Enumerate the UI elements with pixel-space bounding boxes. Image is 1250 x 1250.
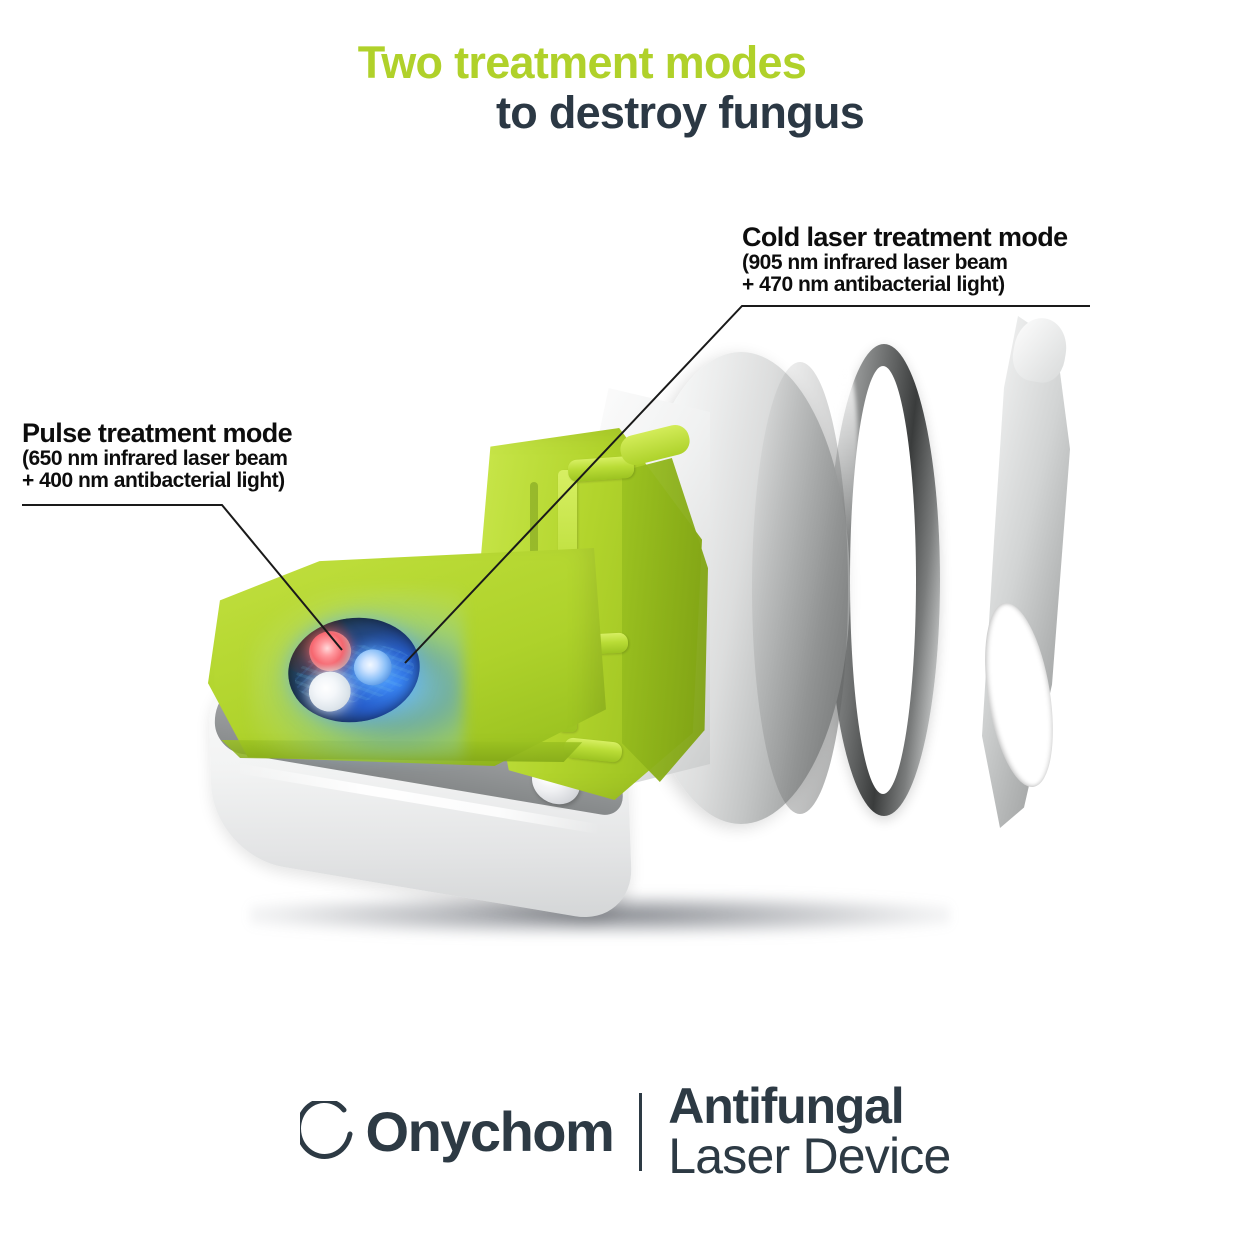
callout-pulse: Pulse treatment mode (650 nm infrared la… xyxy=(22,418,292,492)
lid-lip xyxy=(617,422,692,468)
callout-pulse-title: Pulse treatment mode xyxy=(22,418,292,448)
page-title: Two treatment modes to destroy fungus xyxy=(0,40,1250,136)
callout-pulse-spec-line-1: (650 nm infrared laser beam xyxy=(22,448,292,470)
ring-inner-opening xyxy=(850,366,916,794)
product-name-line-1: Antifungal xyxy=(668,1082,950,1132)
product-name: Antifungal Laser Device xyxy=(668,1082,950,1181)
disc-rim-shading xyxy=(752,362,848,814)
logo-divider xyxy=(639,1093,642,1171)
callout-cold-laser-title: Cold laser treatment mode xyxy=(742,222,1068,252)
lid-side-wall xyxy=(622,458,708,782)
product-illustration xyxy=(180,300,1130,940)
callout-cold-laser: Cold laser treatment mode (905 nm infrar… xyxy=(742,222,1068,296)
curved-blade-lid-part xyxy=(970,316,1070,828)
callout-pulse-spec-line-2: + 400 nm antibacterial light) xyxy=(22,470,292,492)
product-name-line-2: Laser Device xyxy=(668,1132,950,1182)
brand-logo: Onychom Antifungal Laser Device xyxy=(0,1082,1250,1181)
page-title-line-2: to destroy fungus xyxy=(110,90,1250,136)
brand-name: Onychom xyxy=(366,1104,614,1160)
led-cluster xyxy=(288,618,420,726)
page-title-line-1: Two treatment modes xyxy=(0,40,1164,86)
callout-cold-laser-spec-line-1: (905 nm infrared laser beam xyxy=(742,252,1068,274)
open-ring-icon xyxy=(300,1101,362,1163)
callout-cold-laser-spec-line-2: + 470 nm antibacterial light) xyxy=(742,274,1068,296)
